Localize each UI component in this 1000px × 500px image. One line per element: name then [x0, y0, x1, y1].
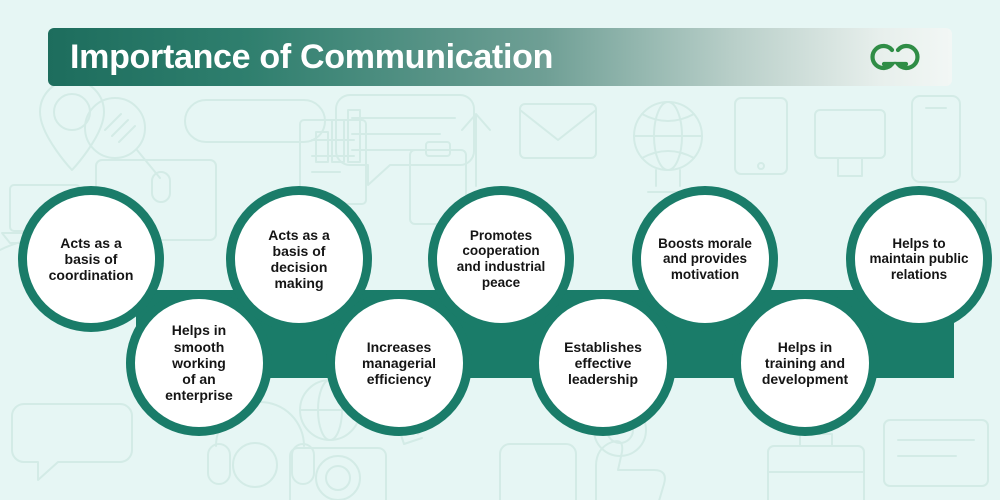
node-label-1: Acts as a basis of coordination	[43, 235, 140, 284]
node-label-4: Increases managerial efficiency	[356, 339, 442, 388]
page-title: Importance of Communication	[70, 28, 553, 86]
node-label-2: Helps in smooth working of an enterprise	[159, 322, 239, 403]
node-label-8: Helps in training and development	[756, 339, 854, 388]
node-label-3: Acts as a basis of decision making	[262, 227, 335, 292]
node-circle-1[interactable]: Acts as a basis of coordination	[18, 186, 164, 332]
node-circle-8[interactable]: Helps in training and development	[732, 290, 878, 436]
node-circle-9[interactable]: Helps to maintain public relations	[846, 186, 992, 332]
node-label-7: Boosts morale and provides motivation	[652, 236, 758, 283]
title-banner: Importance of Communication	[48, 28, 952, 86]
node-label-6: Establishes effective leadership	[558, 339, 648, 388]
node-label-9: Helps to maintain public relations	[863, 236, 974, 283]
infographic-canvas: Importance of Communication Acts as a ba…	[0, 0, 1000, 500]
geeksforgeeks-logo	[864, 40, 926, 74]
node-label-5: Promotes cooperation and industrial peac…	[451, 228, 552, 291]
